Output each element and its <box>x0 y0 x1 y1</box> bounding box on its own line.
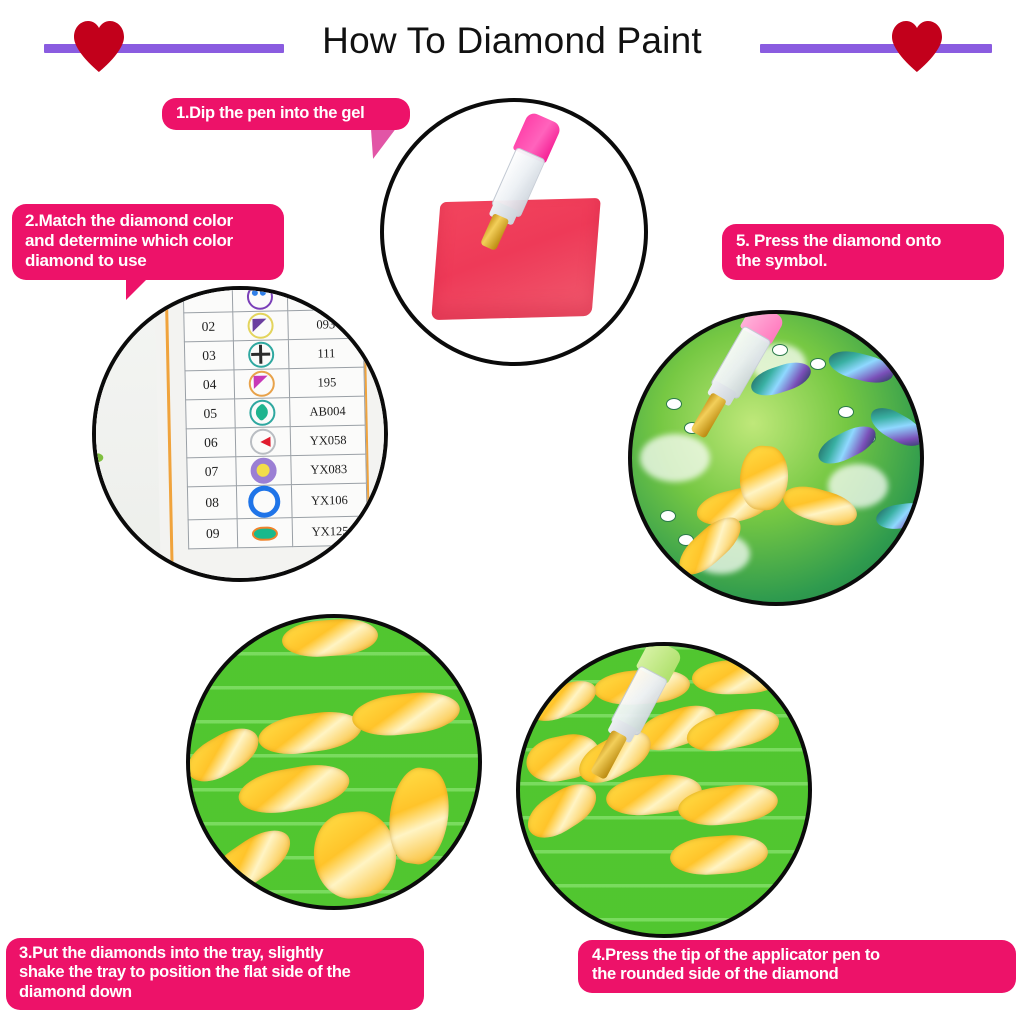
legend-symbol <box>233 340 289 370</box>
table-row: 02 093 <box>184 309 364 342</box>
step-3-photo <box>186 614 482 910</box>
step-3-label-line-1: 3.Put the diamonds into the tray, slight… <box>19 944 411 963</box>
pen-tip <box>590 730 628 780</box>
legend-code: YX106 <box>292 483 367 518</box>
legend-code: 195 <box>289 367 364 398</box>
legend-code: AB004 <box>290 396 365 427</box>
marquise-leaf-icon <box>254 521 276 543</box>
ring-open-icon <box>248 485 281 518</box>
step-2-label-line-3: diamond to use <box>25 251 271 271</box>
diamond-being-placed <box>738 444 790 511</box>
legend-symbol <box>234 369 290 399</box>
step-4-photo <box>516 642 812 938</box>
legend-index <box>183 286 232 313</box>
color-chart-sheet: 028 02 093 03 <box>92 286 388 582</box>
plus-cross-icon <box>248 341 275 368</box>
step-4-label-line-1: 4.Press the tip of the applicator pen to <box>592 946 1002 965</box>
triangle-magenta-icon <box>249 370 276 397</box>
table-row: 06 ◄ YX058 <box>186 425 366 458</box>
legend-symbol <box>236 485 292 519</box>
step-5-label-line-2: the symbol. <box>736 251 990 271</box>
step-4-label: 4.Press the tip of the applicator pen to… <box>578 940 1016 993</box>
table-row: 09 YX125 <box>188 516 368 549</box>
legend-index: 05 <box>186 399 235 429</box>
step-2-photo: 028 02 093 03 <box>92 286 388 582</box>
table-row: 07 YX083 <box>187 454 367 487</box>
legend-index: 04 <box>185 370 234 400</box>
legend-code: YX125 <box>293 516 368 547</box>
color-legend-table: 028 02 093 03 <box>183 286 369 549</box>
chart-guide-line-left <box>164 286 174 582</box>
page-title: How To Diamond Paint <box>0 20 1024 62</box>
table-row: 04 195 <box>185 367 365 400</box>
step-1-photo <box>380 98 648 366</box>
step-3-label-line-3: diamond down <box>19 983 411 1002</box>
step-1-label: 1.Dip the pen into the gel <box>162 98 410 130</box>
step-2-label-tail <box>126 278 148 300</box>
step-3-label: 3.Put the diamonds into the tray, slight… <box>6 938 424 1010</box>
legend-index: 07 <box>187 457 236 487</box>
step-5-photo <box>628 310 924 606</box>
legend-table-body: 028 02 093 03 <box>183 286 368 549</box>
legend-symbol <box>232 286 288 312</box>
legend-symbol <box>237 518 293 548</box>
legend-code: YX083 <box>291 454 366 485</box>
legend-index: 03 <box>184 341 233 371</box>
step-2-label-line-2: and determine which color <box>25 231 271 251</box>
step-5-label: 5. Press the diamond onto the symbol. <box>722 224 1004 280</box>
table-row: 05 AB004 <box>186 396 366 429</box>
table-row: 03 111 <box>184 338 364 371</box>
header-banner: How To Diamond Paint <box>0 0 1024 92</box>
step-2-label: 2.Match the diamond color and determine … <box>12 204 284 280</box>
pen-tip <box>480 213 509 251</box>
legend-symbol <box>233 311 289 341</box>
triangle-filled-icon <box>247 313 274 340</box>
pen-tip <box>690 392 727 439</box>
table-row: 08 YX106 <box>187 483 367 520</box>
circle-double-dot-icon <box>247 286 274 310</box>
chevron-left-icon: ◄ <box>250 428 277 455</box>
step-1-label-tail <box>371 127 399 159</box>
leaf-slash-icon <box>249 399 276 426</box>
legend-index: 02 <box>184 312 233 342</box>
canvas-edge <box>92 286 162 582</box>
step-4-label-line-2: the rounded side of the diamond <box>592 965 1002 984</box>
step-2-label-line-1: 2.Match the diamond color <box>25 211 271 231</box>
legend-symbol <box>234 398 290 428</box>
legend-code: 093 <box>288 309 363 340</box>
legend-index: 09 <box>188 519 237 549</box>
legend-code: YX058 <box>291 425 366 456</box>
legend-symbol <box>236 456 292 486</box>
legend-code: 028 <box>288 286 363 311</box>
legend-index: 06 <box>186 428 235 458</box>
step-3-label-line-2: shake the tray to position the flat side… <box>19 963 411 982</box>
legend-code: 111 <box>289 338 364 369</box>
dot-filled-icon <box>250 457 277 484</box>
legend-symbol: ◄ <box>235 427 291 457</box>
step-5-label-line-1: 5. Press the diamond onto <box>736 231 990 251</box>
legend-index: 08 <box>187 486 236 520</box>
